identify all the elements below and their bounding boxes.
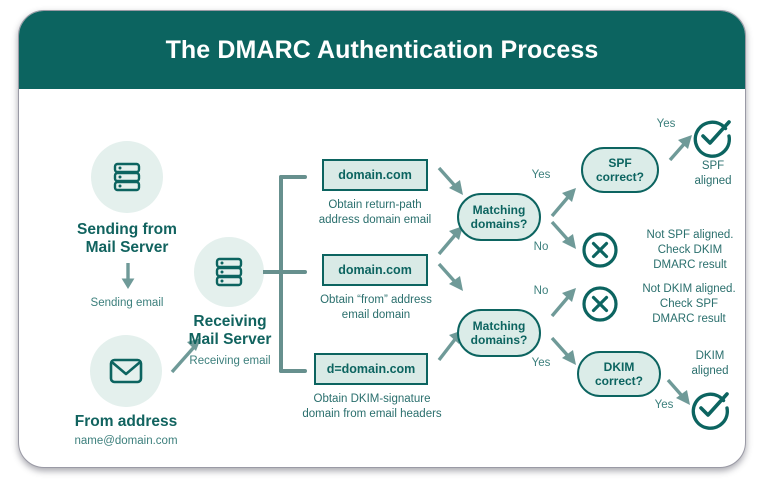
from-address-icon-circle: [90, 335, 162, 407]
not-spf-line2: Check DKIM: [658, 244, 723, 256]
pill-line1: Matching: [473, 319, 526, 333]
matching-domains-top-pill: Matching domains?: [457, 193, 541, 241]
from-address-value: name@domain.com: [46, 434, 206, 448]
pill-line1: DKIM: [604, 360, 635, 374]
arrow-branch2-to-matching-bottom: [436, 261, 470, 303]
envelope-icon: [108, 356, 144, 386]
dkim-aligned-line2: aligned: [691, 365, 728, 377]
page-title: The DMARC Authentication Process: [166, 36, 599, 65]
domain-box-return-path: domain.com: [322, 159, 428, 191]
caption-line1: Obtain DKIM-signature: [314, 393, 431, 405]
sending-label-line2: Mail Server: [86, 239, 169, 256]
arrow-matching-top-no: [549, 219, 583, 259]
caption-line2: address domain email: [319, 214, 432, 226]
branch-caption-from-address: Obtain “from” address email domain: [303, 293, 449, 323]
not-dkim-aligned-x-circle-icon: [581, 285, 619, 323]
matching-top-yes-label: Yes: [524, 169, 558, 181]
server-icon: [110, 160, 144, 194]
pill-line1: Matching: [473, 203, 526, 217]
pill-line2: correct?: [595, 374, 643, 388]
receiving-label-line1: Receiving: [193, 313, 266, 330]
not-dkim-aligned-text: Not DKIM aligned. Check SPF DMARC result: [616, 282, 746, 327]
dkim-correct-pill: DKIM correct?: [577, 351, 661, 397]
server-icon: [212, 255, 246, 289]
branch-caption-return-path: Obtain return-path address domain email: [305, 198, 445, 228]
matching-domains-bottom-pill: Matching domains?: [457, 309, 541, 357]
receiving-label-line2: Mail Server: [189, 331, 272, 348]
domain-box-from-address: domain.com: [322, 254, 428, 286]
from-address-label: From address: [46, 413, 206, 431]
caption-line2: email domain: [342, 309, 410, 321]
not-dkim-line3: DMARC result: [652, 313, 725, 325]
pill-line1: SPF: [608, 156, 631, 170]
not-spf-line3: DMARC result: [653, 259, 726, 271]
spf-aligned-line2: aligned: [694, 175, 731, 187]
arrow-matching-top-yes: [549, 181, 583, 221]
dkim-aligned-check-circle-icon: [689, 387, 731, 429]
sending-email-caption: Sending email: [57, 296, 197, 310]
branch-caption-dkim-signature: Obtain DKIM-signature domain from email …: [291, 392, 453, 422]
diagram-card: The DMARC Authentication Process Sending…: [18, 10, 746, 468]
dkim-aligned-line1: DKIM: [696, 350, 725, 362]
domain-box-dkim-signature: d=domain.com: [314, 353, 428, 385]
caption-line1: Obtain “from” address: [320, 294, 432, 306]
arrow-matching-bottom-no: [549, 281, 583, 321]
pill-line2: domains?: [471, 217, 528, 231]
not-dkim-line1: Not DKIM aligned.: [642, 283, 735, 295]
dkim-correct-yes-label: Yes: [647, 399, 681, 411]
sending-mail-server-label: Sending from Mail Server: [47, 221, 207, 257]
down-arrow-icon: [118, 261, 138, 291]
not-dkim-line2: Check SPF: [660, 298, 718, 310]
spf-aligned-check-circle-icon: [691, 115, 733, 157]
not-spf-line1: Not SPF aligned.: [647, 229, 734, 241]
caption-line1: Obtain return-path: [328, 199, 421, 211]
caption-line2: domain from email headers: [302, 408, 441, 420]
not-spf-aligned-x-circle-icon: [581, 231, 619, 269]
dkim-aligned-label: DKIM aligned: [669, 349, 746, 379]
sending-mail-server-icon-circle: [91, 141, 163, 213]
pill-line2: correct?: [596, 170, 644, 184]
diagram-canvas: Sending from Mail Server Sending email F…: [19, 89, 746, 468]
pill-line2: domains?: [471, 333, 528, 347]
spf-aligned-line1: SPF: [702, 160, 724, 172]
spf-aligned-label: SPF aligned: [672, 159, 746, 189]
not-spf-aligned-text: Not SPF aligned. Check DKIM DMARC result: [620, 228, 746, 273]
diagram-header: The DMARC Authentication Process: [19, 11, 745, 89]
sending-label-line1: Sending from: [77, 221, 177, 238]
receiving-mail-server-icon-circle: [194, 237, 264, 307]
spf-correct-pill: SPF correct?: [581, 147, 659, 193]
